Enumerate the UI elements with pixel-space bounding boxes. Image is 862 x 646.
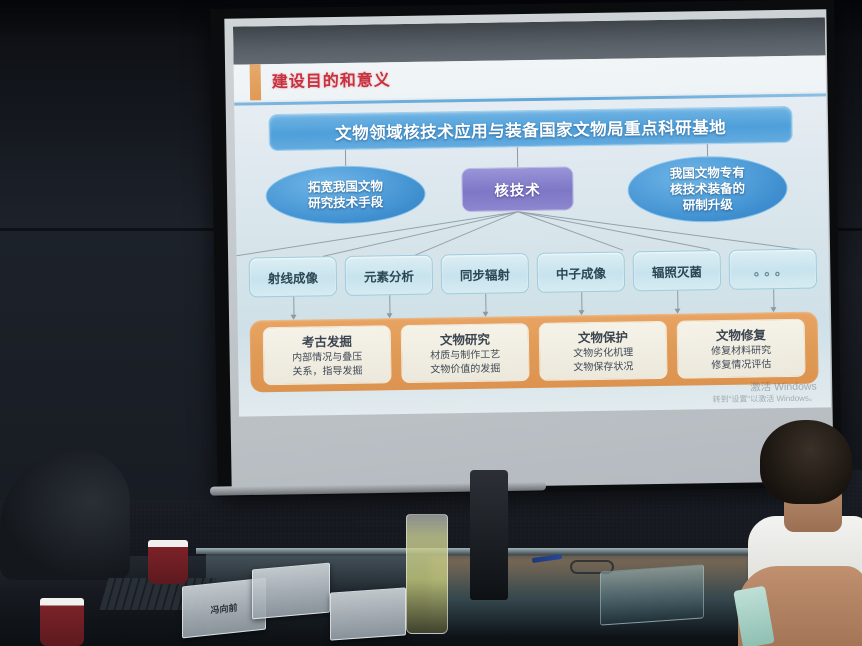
app-card-archaeological-excavation[interactable]: 考古发掘 内部情况与叠压 关系，指导发掘 (263, 325, 392, 385)
chip-elemental-analysis[interactable]: 元素分析 (345, 255, 434, 296)
node-nuclear-technology: 核技术 (461, 166, 574, 212)
chip-irradiation-sterilization[interactable]: 辐照灭菌 (633, 250, 722, 291)
diagram-root-node: 文物领域核技术应用与装备国家文物局重点科研基地 (268, 106, 793, 151)
technology-chip-row: 射线成像 元素分析 同步辐射 中子成像 辐照灭菌 。。。 (247, 249, 820, 298)
slide-diagram-body: 文物领域核技术应用与装备国家文物局重点科研基地 拓宽我国文物 研究技术手段 核技… (234, 96, 831, 416)
title-accent-bar (250, 64, 262, 100)
fan-connector-1 (518, 211, 802, 250)
chip-synchrotron-radiation[interactable]: 同步辐射 (441, 253, 530, 294)
thermos-flask (470, 470, 508, 600)
app-desc-line-2: 关系，指导发掘 (292, 364, 362, 378)
chip-more-ellipsis[interactable]: 。。。 (729, 249, 818, 290)
app-desc-line-2: 文物保存状况 (573, 360, 633, 374)
node-broaden-research-methods: 拓宽我国文物 研究技术手段 (265, 165, 426, 226)
coffee-cup-front (40, 598, 84, 646)
tea-bottle (406, 514, 448, 634)
fan-connector-3 (518, 211, 624, 250)
name-placard-3 (330, 587, 406, 640)
app-title: 考古发掘 (302, 334, 352, 350)
node-dedicated-equipment-upgrade: 我国文物专有 核技术装备的 研制升级 (627, 155, 788, 224)
tablet-device (600, 564, 704, 625)
chip-ray-imaging[interactable]: 射线成像 (249, 256, 338, 297)
presentation-slide: 建设目的和意义 文物领域核技术应用与装备国家文物局重点科研基地 拓宽我国文物 研… (233, 17, 831, 416)
app-desc-line-1: 文物劣化机理 (573, 346, 633, 360)
chip-neutron-imaging[interactable]: 中子成像 (537, 252, 626, 293)
app-desc-line-2: 修复情况评估 (711, 358, 771, 372)
app-card-relic-research[interactable]: 文物研究 材质与制作工艺 文物价值的发掘 (401, 323, 530, 383)
coffee-cup-back (148, 540, 188, 584)
node-line-1: 拓宽我国文物 (308, 178, 383, 195)
node-line-2: 核技术装备的 (670, 181, 745, 198)
app-desc-line-2: 文物价值的发掘 (430, 362, 500, 376)
connector-root-to-left (345, 150, 346, 166)
connector-root-to-core (517, 147, 518, 167)
slide-title: 建设目的和意义 (272, 66, 391, 92)
app-title: 文物保护 (578, 330, 628, 346)
node-line-3: 研制升级 (683, 197, 733, 214)
app-card-relic-restoration[interactable]: 文物修复 修复材料研究 修复情况评估 (677, 319, 806, 379)
app-title: 文物研究 (440, 332, 490, 348)
conference-room-scene: 建设目的和意义 文物领域核技术应用与装备国家文物局重点科研基地 拓宽我国文物 研… (0, 0, 862, 646)
name-placard-label: 冯向前 (210, 600, 237, 616)
app-title: 文物修复 (716, 328, 766, 344)
app-desc-line-1: 材质与制作工艺 (430, 348, 500, 362)
name-placard-2 (252, 563, 330, 620)
attendee-head (760, 420, 852, 504)
app-desc-line-1: 修复材料研究 (711, 344, 771, 358)
watermark-line-2: 转到"设置"以激活 Windows。 (712, 394, 817, 406)
app-card-relic-protection[interactable]: 文物保护 文物劣化机理 文物保存状况 (539, 321, 668, 381)
node-line-2: 研究技术手段 (308, 194, 383, 211)
application-band: 考古发掘 内部情况与叠压 关系，指导发掘 文物研究 材质与制作工艺 文物价值的发… (250, 312, 819, 393)
connector-root-to-right (707, 144, 708, 156)
seated-attendee (738, 420, 862, 646)
node-line-1: 我国文物专有 (670, 165, 745, 182)
app-desc-line-1: 内部情况与叠压 (292, 350, 362, 364)
fan-connector-4 (415, 211, 519, 256)
wall-left-panel (0, 0, 232, 500)
